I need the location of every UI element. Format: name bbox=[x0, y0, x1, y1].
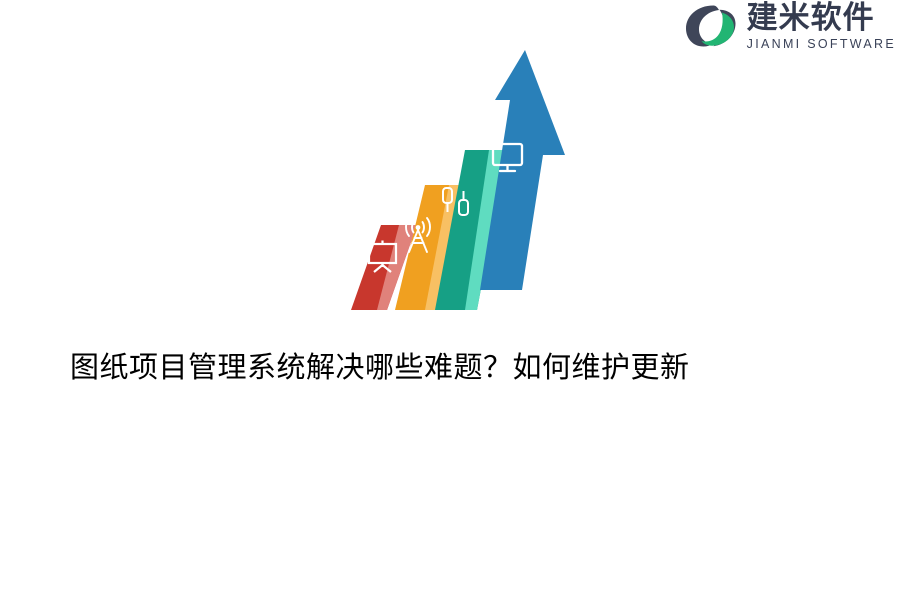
ascending-bars-growth-arrow-graphic bbox=[325, 40, 585, 325]
page-root: 建米软件 JIANMI SOFTWARE bbox=[0, 0, 900, 600]
hero-illustration bbox=[325, 40, 585, 325]
page-title: 图纸项目管理系统解决哪些难题？如何维护更新 bbox=[70, 348, 830, 388]
brand-logo[interactable]: 建米软件 JIANMI SOFTWARE bbox=[683, 2, 896, 51]
brand-wordmark: 建米软件 JIANMI SOFTWARE bbox=[747, 2, 896, 51]
brand-tagline: JIANMI SOFTWARE bbox=[747, 38, 896, 51]
jianmi-leaf-swoosh-logo-icon bbox=[683, 3, 741, 49]
brand-name: 建米软件 bbox=[747, 2, 875, 33]
